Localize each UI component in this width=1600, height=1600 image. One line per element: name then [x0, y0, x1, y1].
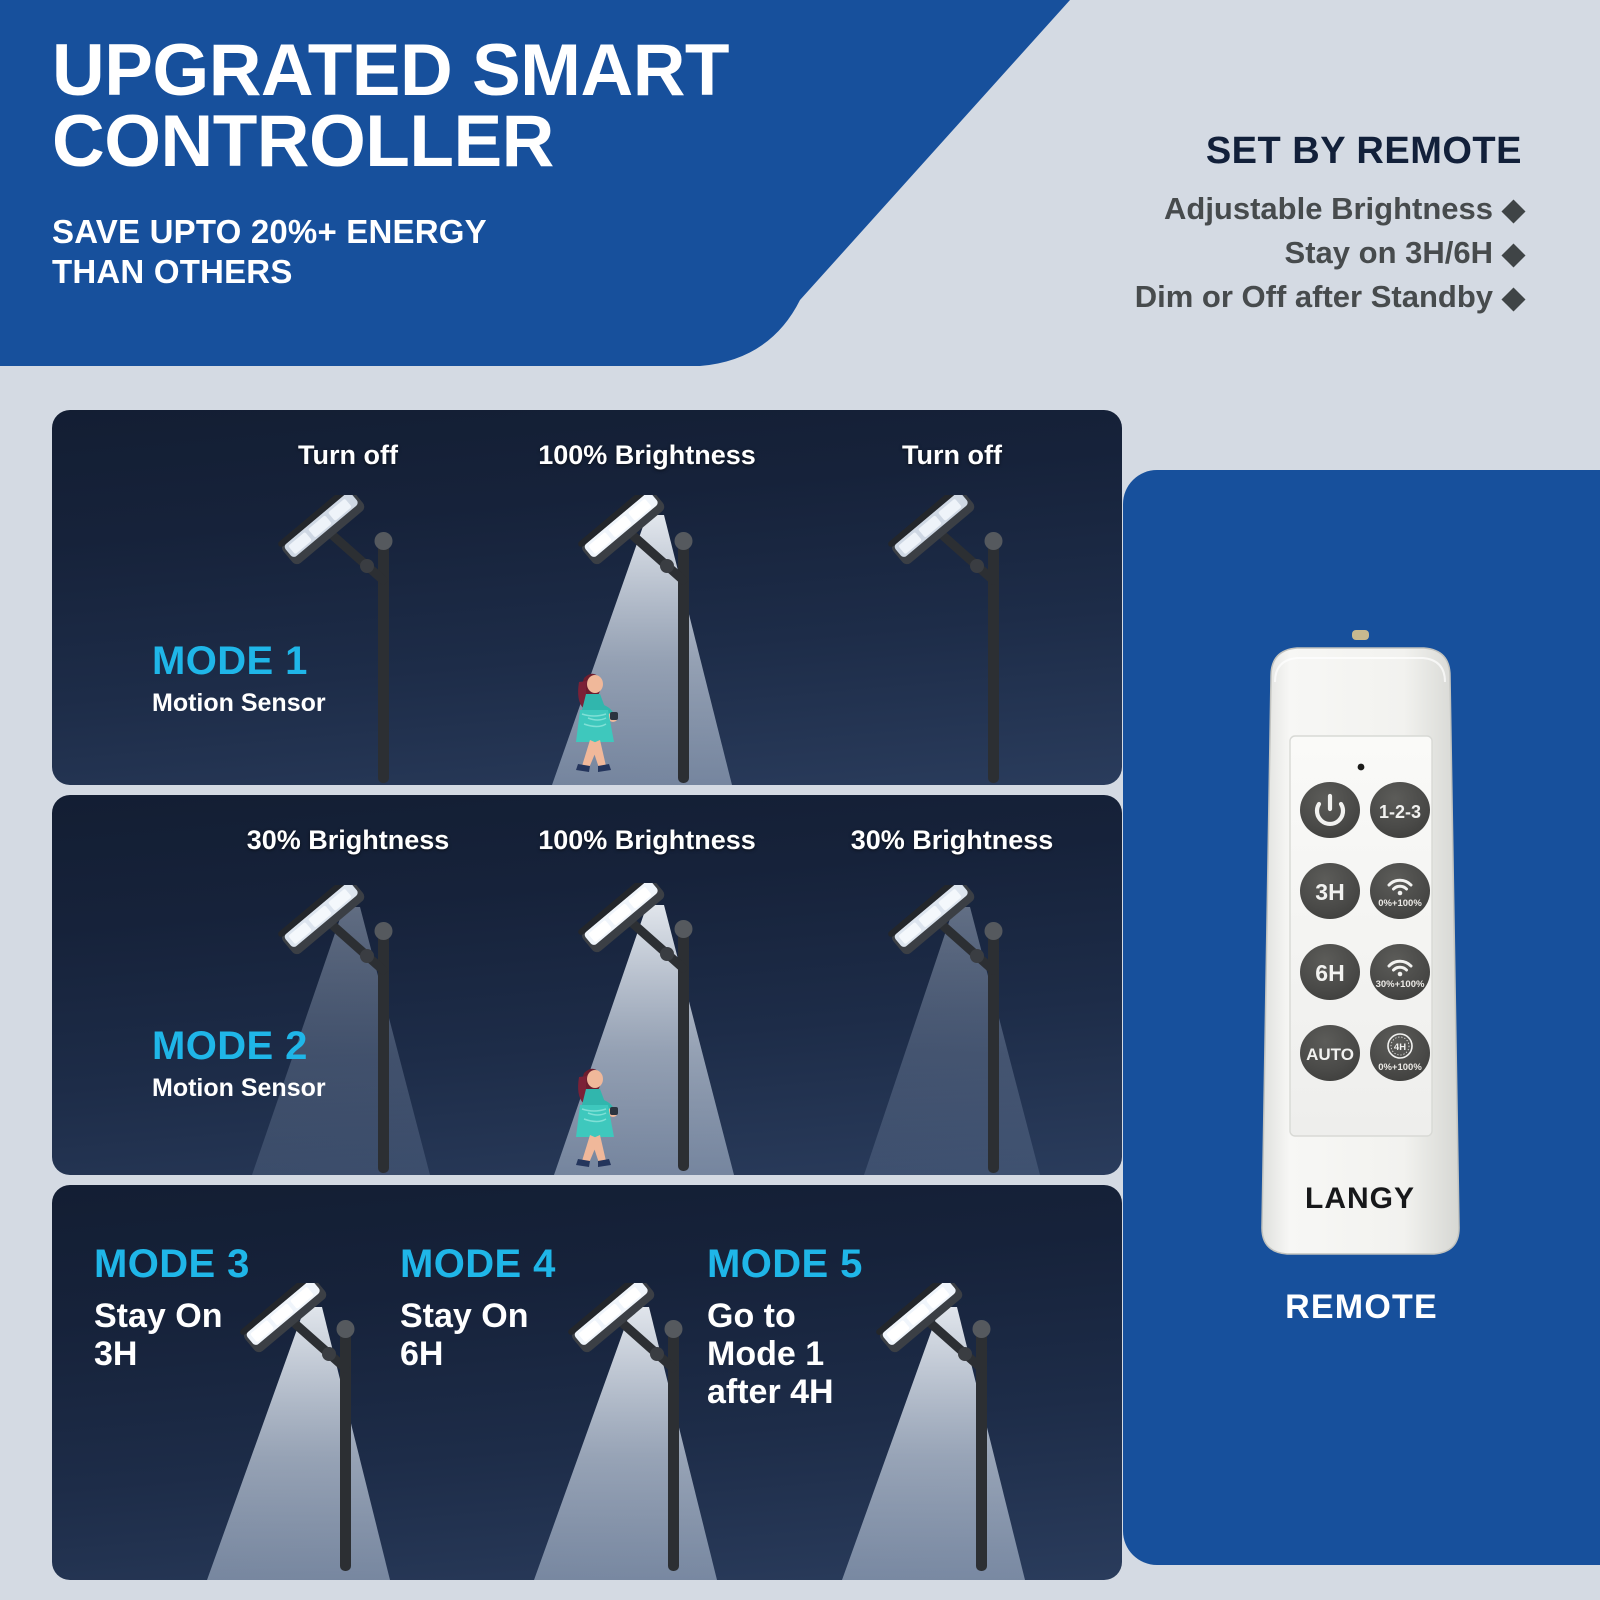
diamond-bullet-icon [1501, 199, 1525, 223]
feature-item-3: Dim or Off after Standby [1135, 275, 1522, 319]
mode1-caption-left: Turn off [298, 440, 398, 471]
header-banner: UPGRATED SMART CONTROLLER SAVE UPTO 20%+… [0, 0, 1600, 380]
page-subtitle-line1: SAVE UPTO 20%+ ENERGY [52, 212, 932, 252]
mode2-caption-right: 30% Brightness [851, 825, 1054, 856]
remote-button-label-6h: 6H [1315, 960, 1344, 986]
remote-button-label-1-2-3: 1-2-3 [1379, 802, 1421, 822]
feature-label-2: Stay on 3H/6H [1285, 235, 1493, 270]
diamond-bullet-icon [1501, 243, 1525, 267]
mode-1-panel: Turn off 100% Brightness Turn off [52, 410, 1122, 785]
feature-item-2: Stay on 3H/6H [1135, 231, 1522, 275]
mode-4-desc-line2: 6H [400, 1335, 556, 1373]
mode-1-label: MODE 1 Motion Sensor [152, 640, 326, 719]
led-indicator-icon [1358, 764, 1365, 771]
mode1-caption-right: Turn off [902, 440, 1002, 471]
mode-2-panel: 30% Brightness 100% Brightness 30% Brigh… [52, 795, 1122, 1175]
page-title-line2: CONTROLLER [52, 107, 932, 178]
street-lamp-right-dim [882, 885, 1042, 1175]
walking-person-icon [564, 662, 624, 785]
mode-3-desc-line2: 3H [94, 1335, 250, 1373]
mode-5-desc-line1: Go to [707, 1297, 863, 1335]
mode-4-desc-line1: Stay On [400, 1297, 556, 1335]
mode2-caption-left: 30% Brightness [247, 825, 450, 856]
walking-person-icon [564, 1057, 624, 1175]
header-left-text-block: UPGRATED SMART CONTROLLER SAVE UPTO 20%+… [52, 36, 932, 292]
mode-1-title: MODE 1 [152, 640, 326, 682]
mode-5-label: MODE 5 Go to Mode 1 after 4H [707, 1243, 863, 1411]
mode1-caption-center: 100% Brightness [538, 440, 756, 471]
mode-3-label: MODE 3 Stay On 3H [94, 1243, 250, 1373]
mode-2-desc: Motion Sensor [152, 1074, 326, 1104]
remote-button-sub-clock-0-100: 0%+100% [1378, 1062, 1422, 1073]
diamond-bullet-icon [1501, 288, 1525, 312]
modes-345-panel: MODE 3 Stay On 3H MODE 4 Stay On 6H MODE… [52, 1185, 1122, 1580]
feature-label-3: Dim or Off after Standby [1135, 279, 1493, 314]
remote-button-label-3h: 3H [1315, 879, 1344, 905]
mode-1-desc: Motion Sensor [152, 689, 326, 719]
mode-3-desc-line1: Stay On [94, 1297, 250, 1335]
page-title-line1: UPGRATED SMART [52, 36, 932, 107]
mode-5-desc-line3: after 4H [707, 1373, 863, 1411]
remote-brand-logo: LANGY [1305, 1182, 1415, 1215]
mode-5-desc-line2: Mode 1 [707, 1335, 863, 1373]
mode-2-title: MODE 2 [152, 1025, 326, 1067]
street-lamp-mode3 [234, 1283, 394, 1573]
mode-4-title: MODE 4 [400, 1243, 556, 1285]
remote-svg: 1-2-3 3H 0%+100% 6H 30%+100% [1227, 630, 1494, 1270]
feature-item-1: Adjustable Brightness [1135, 187, 1522, 231]
mode-2-label: MODE 2 Motion Sensor [152, 1025, 326, 1104]
remote-caption-label: REMOTE [1123, 1288, 1600, 1327]
ir-emitter-icon [1352, 630, 1369, 640]
street-lamp-mode4 [562, 1283, 722, 1573]
page-subtitle-line2: THAN OTHERS [52, 252, 932, 292]
clock-icon-hours: 4H [1394, 1042, 1406, 1053]
set-by-remote-block: SET BY REMOTE Adjustable Brightness Stay… [1135, 130, 1522, 319]
mode2-caption-center: 100% Brightness [538, 825, 756, 856]
feature-label-1: Adjustable Brightness [1164, 191, 1493, 226]
street-lamp-right-off [882, 495, 1042, 785]
mode-5-title: MODE 5 [707, 1243, 863, 1285]
remote-button-sub-0-100: 0%+100% [1378, 898, 1422, 909]
remote-button-label-auto: AUTO [1306, 1045, 1354, 1064]
set-by-remote-title: SET BY REMOTE [1135, 130, 1522, 173]
remote-button-sub-30-100: 30%+100% [1376, 979, 1425, 990]
mode-3-title: MODE 3 [94, 1243, 250, 1285]
street-lamp-mode5 [870, 1283, 1030, 1573]
remote-control-device: 1-2-3 3H 0%+100% 6H 30%+100% [1227, 630, 1494, 1270]
mode-4-label: MODE 4 Stay On 6H [400, 1243, 556, 1373]
infographic-page: UPGRATED SMART CONTROLLER SAVE UPTO 20%+… [0, 0, 1600, 1600]
